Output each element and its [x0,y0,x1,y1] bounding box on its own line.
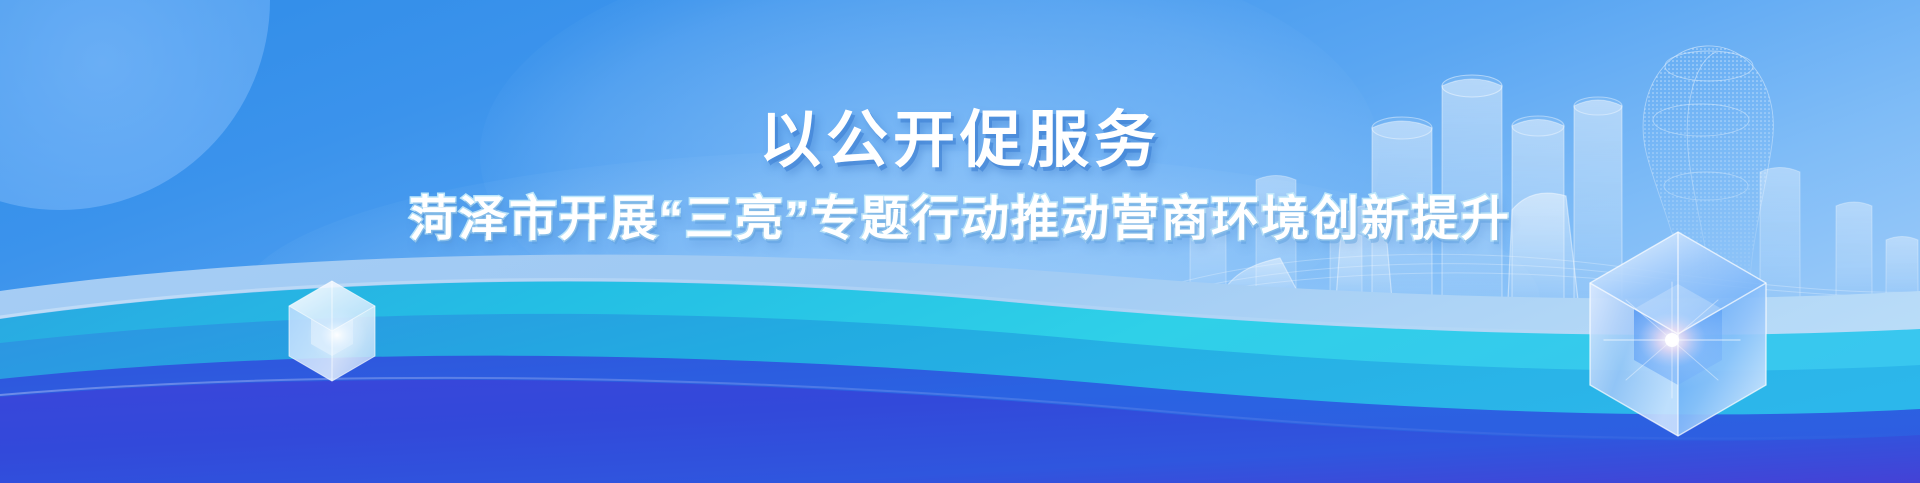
banner-text-block: 以公开促服务 菏泽市开展“三亮”专题行动推动营商环境创新提升 [0,0,1920,483]
radial-light-glow-center [480,0,1380,370]
wave-decoration [0,183,1920,483]
radial-light-glow-lower [240,150,1540,450]
glass-cube-large-icon [1558,216,1798,452]
promo-banner: 以公开促服务 菏泽市开展“三亮”专题行动推动营商环境创新提升 [0,0,1920,483]
city-skyline-icon [1160,0,1920,300]
glass-cube-small-icon [272,272,392,390]
radial-light-glow-top-left [0,0,270,210]
banner-main-title: 以公开促服务 [0,110,1920,172]
banner-subtitle: 菏泽市开展“三亮”专题行动推动营商环境创新提升 [0,196,1920,244]
